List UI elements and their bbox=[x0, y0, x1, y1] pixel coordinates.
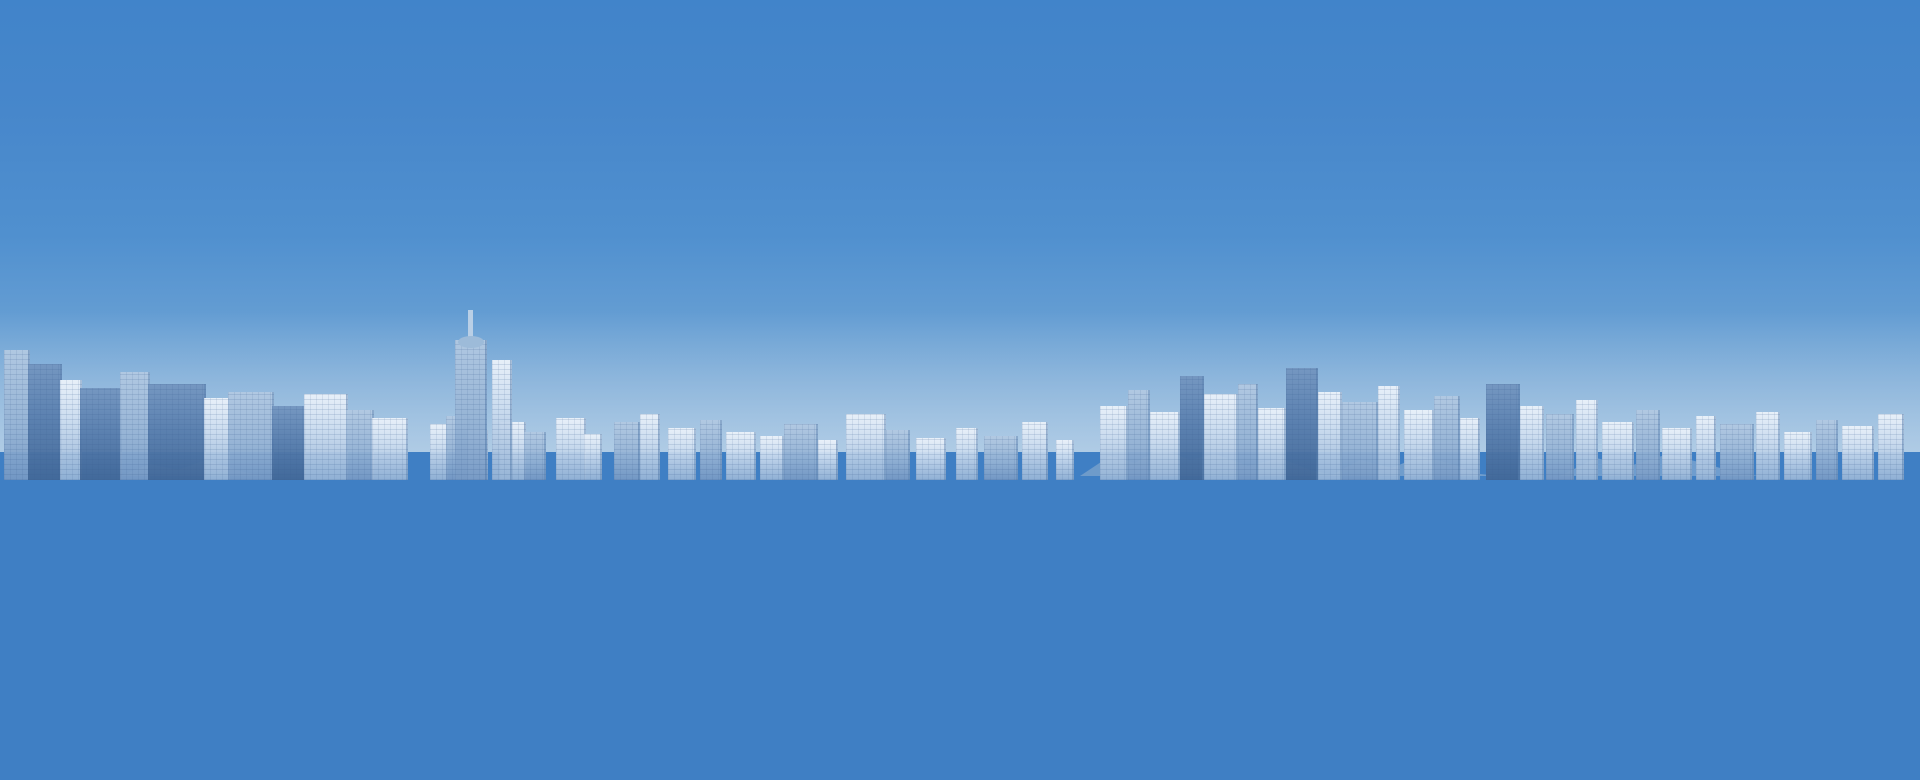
hero-banner: 技术创新 服务利人 致力于改善水、土壤、大气乃至我们赖以生存的环境 连续热水解 … bbox=[0, 0, 1920, 780]
city-skyline bbox=[0, 0, 1920, 780]
hero-background-image: 技术创新 服务利人 致力于改善水、土壤、大气乃至我们赖以生存的环境 连续热水解 … bbox=[0, 0, 1920, 780]
tower-disc bbox=[458, 336, 484, 348]
